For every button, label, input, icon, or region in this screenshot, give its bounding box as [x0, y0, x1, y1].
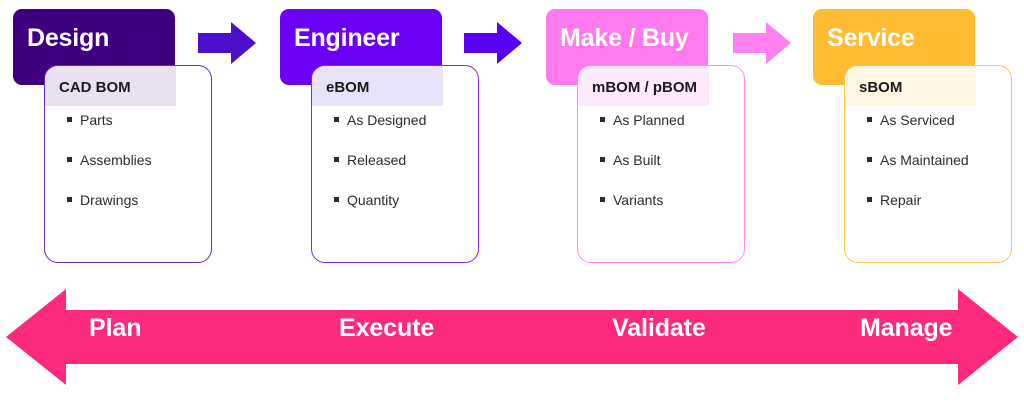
bullet-icon	[67, 197, 72, 202]
list-item: As Serviced	[867, 113, 1007, 127]
bullet-icon	[334, 117, 339, 122]
stage-header-label-design: Design	[13, 9, 109, 51]
right-arrow-icon	[198, 22, 256, 64]
list-item: Repair	[867, 193, 1007, 207]
phase-label-plan: Plan	[89, 316, 141, 341]
bom-item-label: As Serviced	[880, 112, 955, 128]
list-item: As Built	[600, 153, 740, 167]
stage-header-label-service: Service	[813, 9, 915, 51]
bullet-icon	[867, 197, 872, 202]
bullet-icon	[334, 157, 339, 162]
bullet-icon	[867, 157, 872, 162]
bom-item-label: Repair	[880, 192, 921, 208]
bom-item-list-design: Parts Assemblies Drawings	[67, 113, 207, 233]
bom-item-list-make-buy: As Planned As Built Variants	[600, 113, 740, 233]
bullet-icon	[67, 117, 72, 122]
bom-item-label: Quantity	[347, 192, 399, 208]
bom-card-cad-bom[interactable]: CAD BOM Parts Assemblies Drawings	[44, 65, 212, 263]
list-item: Drawings	[67, 193, 207, 207]
list-item: Variants	[600, 193, 740, 207]
connector-arrow-engineer-to-make-buy	[464, 22, 522, 64]
phase-label-manage: Manage	[860, 316, 952, 341]
bullet-icon	[867, 117, 872, 122]
list-item: As Planned	[600, 113, 740, 127]
bullet-icon	[334, 197, 339, 202]
list-item: As Maintained	[867, 153, 1007, 167]
bullet-icon	[600, 117, 605, 122]
phase-label-execute: Execute	[339, 316, 434, 341]
list-item: As Designed	[334, 113, 474, 127]
phase-arrow-bar: Plan Execute Validate Manage	[0, 283, 1024, 391]
bom-item-label: Drawings	[80, 192, 138, 208]
bom-lifecycle-diagram: Design CAD BOM Parts Assemblies Drawings…	[0, 0, 1024, 403]
right-arrow-icon	[733, 22, 791, 64]
bom-item-label: As Planned	[613, 112, 685, 128]
list-item: Quantity	[334, 193, 474, 207]
connector-arrow-make-buy-to-service	[733, 22, 791, 64]
connector-arrow-design-to-engineer	[198, 22, 256, 64]
bullet-icon	[600, 197, 605, 202]
bom-card-title-mbom-pbom: mBOM / pBOM	[592, 79, 697, 96]
bom-item-label: As Built	[613, 152, 660, 168]
stage-header-label-make-buy: Make / Buy	[546, 9, 689, 51]
bom-card-title-sbom: sBOM	[859, 79, 902, 96]
bom-card-title-ebom: eBOM	[326, 79, 369, 96]
bom-item-label: Released	[347, 152, 406, 168]
bom-card-sbom[interactable]: sBOM As Serviced As Maintained Repair	[844, 65, 1012, 263]
stage-header-label-engineer: Engineer	[280, 9, 399, 51]
bom-card-title-cad-bom: CAD BOM	[59, 79, 131, 96]
list-item: Assemblies	[67, 153, 207, 167]
list-item: Parts	[67, 113, 207, 127]
bom-card-ebom[interactable]: eBOM As Designed Released Quantity	[311, 65, 479, 263]
bullet-icon	[67, 157, 72, 162]
right-arrow-icon	[464, 22, 522, 64]
phase-label-validate: Validate	[612, 316, 706, 341]
bom-item-list-engineer: As Designed Released Quantity	[334, 113, 474, 233]
list-item: Released	[334, 153, 474, 167]
bom-item-label: As Designed	[347, 112, 426, 128]
bom-item-list-service: As Serviced As Maintained Repair	[867, 113, 1007, 233]
bom-item-label: Assemblies	[80, 152, 152, 168]
bom-card-mbom-pbom[interactable]: mBOM / pBOM As Planned As Built Variants	[577, 65, 745, 263]
bom-item-label: As Maintained	[880, 152, 969, 168]
bom-item-label: Parts	[80, 112, 113, 128]
bullet-icon	[600, 157, 605, 162]
bom-item-label: Variants	[613, 192, 663, 208]
